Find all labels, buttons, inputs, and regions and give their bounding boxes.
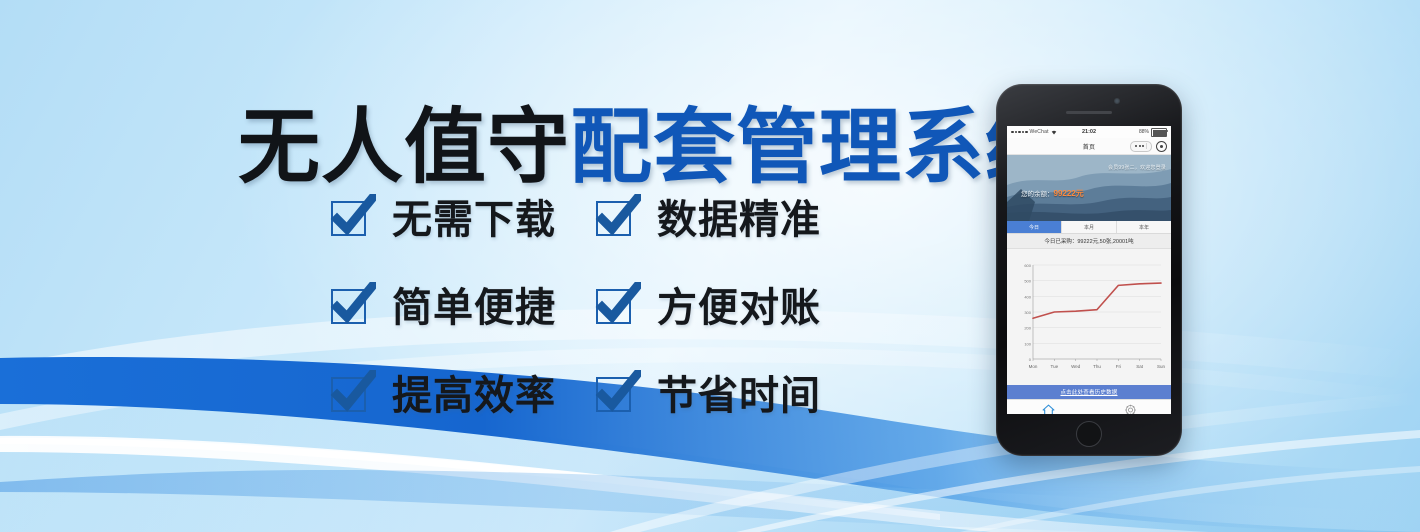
- feature-list: 无需下载 数据精准 简单便捷 方便对账: [330, 172, 860, 436]
- status-bar: WeChat 21:02 88%: [1007, 126, 1171, 138]
- home-button[interactable]: [1076, 421, 1102, 447]
- promo-banner: 无人值守配套管理系统 无需下载 数据精准 简单便捷: [0, 0, 1420, 532]
- feature-item-5: 节省时间: [595, 363, 860, 421]
- checkbox-checked-icon: [330, 194, 376, 238]
- phone-bottom-bezel: [996, 414, 1182, 456]
- status-bar-time: 21:02: [1082, 129, 1096, 135]
- checkbox-checked-icon: [330, 370, 376, 414]
- signal-strength-icon: [1011, 131, 1028, 134]
- feature-item-3: 方便对账: [595, 275, 860, 333]
- period-tabs: 今日 本月 本年: [1007, 221, 1171, 234]
- view-history-button[interactable]: 点击此处查看历史数据: [1007, 385, 1171, 399]
- feature-label-1: 数据精准: [657, 187, 821, 245]
- purchase-summary-text: 今日已采购：99222元,50张,20001吨: [1044, 237, 1133, 245]
- svg-text:Wed: Wed: [1071, 364, 1081, 369]
- svg-text:500: 500: [1024, 279, 1031, 284]
- feature-label-2: 简单便捷: [392, 275, 556, 333]
- feature-label-4: 提高效率: [392, 363, 556, 421]
- checkbox-checked-icon: [595, 194, 641, 238]
- hero-balance: 您的余额：99222元: [1021, 188, 1084, 199]
- checkbox-checked-icon: [595, 370, 641, 414]
- weekly-trend-chart: 0100200300400500600MonTueWedThuFriSatSun: [1007, 249, 1171, 385]
- feature-label-5: 节省时间: [657, 363, 821, 421]
- feature-label-0: 无需下载: [392, 187, 556, 245]
- checkbox-checked-icon: [330, 282, 376, 326]
- purchase-summary: 今日已采购：99222元,50张,20001吨: [1007, 234, 1171, 249]
- tabbar-item-profile[interactable]: 个人中心: [1089, 400, 1171, 414]
- feature-item-4: 提高效率: [330, 363, 595, 421]
- tab-today[interactable]: 今日: [1007, 221, 1062, 233]
- svg-text:400: 400: [1024, 294, 1031, 299]
- svg-text:Tue: Tue: [1051, 364, 1059, 369]
- battery-percent-label: 88%: [1139, 129, 1149, 135]
- feature-label-3: 方便对账: [657, 275, 821, 333]
- earpiece-speaker: [1066, 111, 1112, 114]
- chart-svg: 0100200300400500600MonTueWedThuFriSatSun: [1011, 255, 1167, 383]
- phone-mockup: WeChat 21:02 88% 首页: [996, 84, 1182, 456]
- more-dots-icon[interactable]: [1130, 141, 1152, 152]
- tab-year-label: 本年: [1139, 224, 1149, 231]
- svg-text:Fri: Fri: [1116, 364, 1121, 369]
- svg-text:300: 300: [1024, 310, 1031, 315]
- feature-item-1: 数据精准: [595, 187, 860, 245]
- navbar-actions: [1130, 141, 1167, 152]
- hero-welcome-text: 会员99张二，欢迎您登录: [1108, 164, 1166, 171]
- tab-month[interactable]: 本月: [1062, 221, 1117, 233]
- bottom-tabbar: 首页 个人中心: [1007, 399, 1171, 414]
- battery-icon: [1151, 128, 1167, 137]
- wifi-icon: [1051, 130, 1057, 135]
- tab-month-label: 本月: [1084, 224, 1094, 231]
- carrier-label: WeChat: [1030, 129, 1049, 135]
- svg-text:600: 600: [1024, 263, 1031, 268]
- balance-label: 您的余额：: [1021, 191, 1054, 198]
- status-bar-right: 88%: [1096, 128, 1167, 137]
- front-camera-icon: [1114, 98, 1120, 104]
- svg-text:100: 100: [1024, 341, 1031, 346]
- tab-year[interactable]: 本年: [1117, 221, 1171, 233]
- tabbar-item-home[interactable]: 首页: [1007, 400, 1089, 414]
- phone-top-bezel: [996, 84, 1182, 126]
- svg-text:Sat: Sat: [1136, 364, 1144, 369]
- balance-value: 99222元: [1054, 189, 1084, 198]
- status-bar-left: WeChat: [1011, 129, 1082, 135]
- svg-text:0: 0: [1029, 357, 1032, 362]
- feature-item-2: 简单便捷: [330, 275, 595, 333]
- tab-today-label: 今日: [1029, 224, 1039, 231]
- feature-item-0: 无需下载: [330, 187, 595, 245]
- phone-screen: WeChat 21:02 88% 首页: [1007, 126, 1171, 414]
- svg-text:Mon: Mon: [1029, 364, 1038, 369]
- hero-banner: 会员99张二，欢迎您登录 您的余额：99222元: [1007, 155, 1171, 221]
- gear-icon: [1124, 404, 1137, 415]
- checkbox-checked-icon: [595, 282, 641, 326]
- home-icon: [1042, 404, 1055, 415]
- svg-text:200: 200: [1024, 326, 1031, 331]
- svg-text:Thu: Thu: [1093, 364, 1101, 369]
- wechat-navbar: 首页: [1007, 138, 1171, 155]
- target-circle-icon[interactable]: [1156, 141, 1167, 152]
- view-history-label: 点击此处查看历史数据: [1060, 388, 1117, 396]
- svg-text:Sun: Sun: [1157, 364, 1166, 369]
